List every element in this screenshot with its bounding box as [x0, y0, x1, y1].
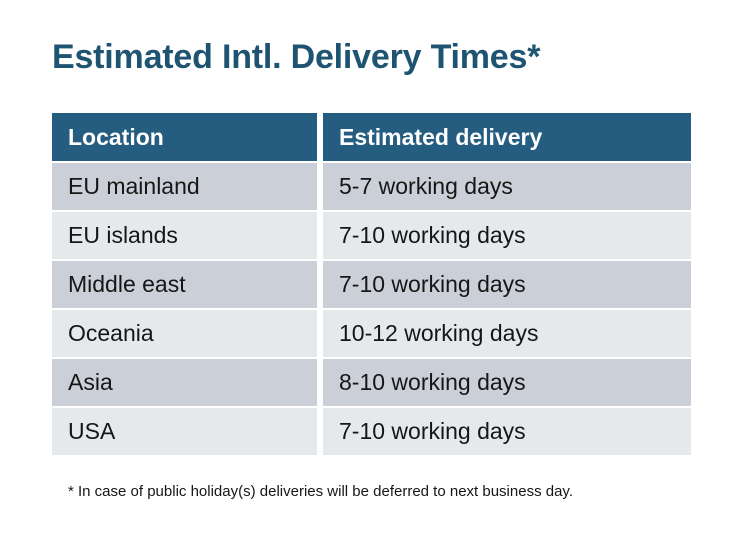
cell-estimated-delivery: 7-10 working days [323, 408, 691, 455]
column-header-location: Location [52, 113, 317, 161]
delivery-times-table: Location Estimated delivery EU mainland … [52, 113, 691, 457]
cell-estimated-delivery: 5-7 working days [323, 163, 691, 210]
cell-location: EU islands [52, 212, 317, 259]
cell-location: USA [52, 408, 317, 455]
cell-estimated-delivery: 10-12 working days [323, 310, 691, 357]
table-row: EU mainland 5-7 working days [52, 163, 691, 210]
cell-estimated-delivery: 8-10 working days [323, 359, 691, 406]
table-row: Asia 8-10 working days [52, 359, 691, 406]
table-row: Oceania 10-12 working days [52, 310, 691, 357]
cell-location: EU mainland [52, 163, 317, 210]
column-header-estimated-delivery: Estimated delivery [323, 113, 691, 161]
table-row: USA 7-10 working days [52, 408, 691, 455]
table-row: Middle east 7-10 working days [52, 261, 691, 308]
delivery-times-page: Estimated Intl. Delivery Times* Location… [0, 0, 745, 536]
cell-location: Asia [52, 359, 317, 406]
table-header-row: Location Estimated delivery [52, 113, 691, 161]
cell-estimated-delivery: 7-10 working days [323, 261, 691, 308]
page-title: Estimated Intl. Delivery Times* [52, 36, 540, 78]
table-row: EU islands 7-10 working days [52, 212, 691, 259]
cell-estimated-delivery: 7-10 working days [323, 212, 691, 259]
cell-location: Middle east [52, 261, 317, 308]
footnote-text: * In case of public holiday(s) deliverie… [68, 481, 573, 503]
cell-location: Oceania [52, 310, 317, 357]
